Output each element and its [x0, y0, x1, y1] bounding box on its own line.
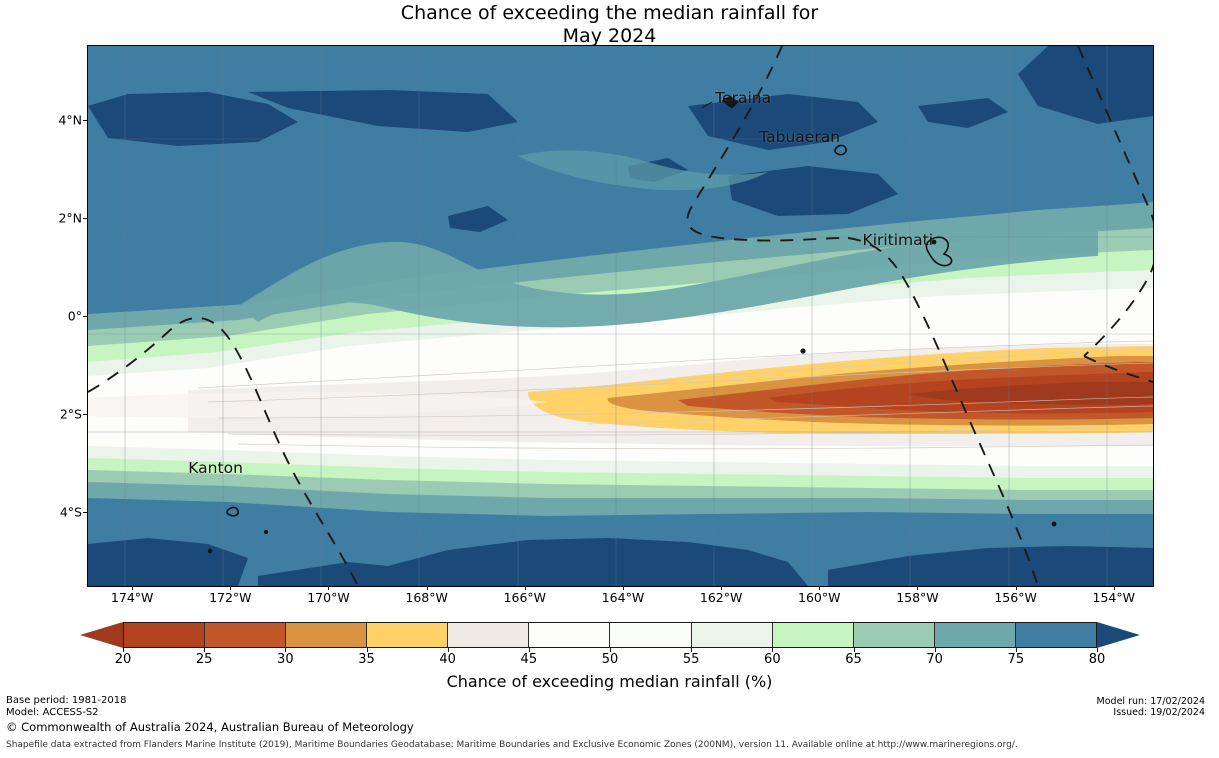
- colorbar-segment-0: [124, 623, 205, 647]
- colorbar-segment-11: [1016, 623, 1096, 647]
- colorbar-tick-label-75: 75: [1008, 652, 1025, 667]
- x-tick-mark-2: [328, 586, 329, 590]
- x-tick-label-4: 166°W: [504, 590, 546, 605]
- x-tick-mark-10: [1114, 586, 1115, 590]
- x-tick-label-5: 164°W: [602, 590, 644, 605]
- rainfall-probability-contour-map: [88, 46, 1153, 586]
- colorbar-tick-label-60: 60: [764, 652, 781, 667]
- place-label-kanton: Kanton: [188, 459, 243, 477]
- colorbar-over-arrow: [1097, 622, 1140, 648]
- place-label-tabuaeran: Tabuaeran: [759, 128, 840, 146]
- copyright-text: © Commonwealth of Australia 2024, Austra…: [6, 720, 414, 734]
- x-tick-mark-3: [427, 586, 428, 590]
- y-tick-label-0: 4°N: [58, 112, 82, 127]
- colorbar-tick-label-50: 50: [602, 652, 619, 667]
- y-tick-mark-1: [83, 218, 87, 219]
- colorbar-tick-label-70: 70: [926, 652, 943, 667]
- y-tick-mark-2: [83, 316, 87, 317]
- colorbar-segment-2: [286, 623, 367, 647]
- colorbar-segment-4: [448, 623, 529, 647]
- model-text: Model: ACCESS-S2: [6, 707, 126, 719]
- x-tick-label-8: 158°W: [896, 590, 938, 605]
- y-tick-mark-3: [83, 414, 87, 415]
- x-tick-mark-7: [819, 586, 820, 590]
- colorbar-segment-10: [935, 623, 1016, 647]
- y-tick-label-4: 4°S: [60, 505, 82, 520]
- colorbar-tick-label-65: 65: [845, 652, 862, 667]
- colorbar-tick-label-35: 35: [358, 652, 375, 667]
- x-tick-mark-5: [623, 586, 624, 590]
- y-tick-label-1: 2°N: [58, 210, 82, 225]
- colorbar-tick-label-45: 45: [521, 652, 538, 667]
- place-label-teraina: Teraina: [715, 89, 771, 107]
- x-tick-mark-8: [917, 586, 918, 590]
- colorbar-segment-3: [367, 623, 448, 647]
- map-panel: Teraina Tabuaeran Kiritimati Kanton: [87, 45, 1154, 587]
- x-tick-label-6: 162°W: [700, 590, 742, 605]
- x-tick-label-10: 154°W: [1093, 590, 1135, 605]
- colorbar-tick-label-40: 40: [439, 652, 456, 667]
- colorbar-tick-label-55: 55: [683, 652, 700, 667]
- colorbar-segment-9: [854, 623, 935, 647]
- x-tick-mark-6: [721, 586, 722, 590]
- page-title: Chance of exceeding the median rainfall …: [0, 2, 1219, 48]
- y-tick-mark-4: [83, 512, 87, 513]
- colorbar-segment-7: [692, 623, 773, 647]
- colorbar-tick-label-25: 25: [196, 652, 213, 667]
- colorbar-segments: [123, 622, 1097, 648]
- x-tick-label-3: 168°W: [405, 590, 447, 605]
- x-tick-label-2: 170°W: [307, 590, 349, 605]
- place-label-kiritimati: Kiritimati: [863, 231, 934, 249]
- y-tick-mark-0: [83, 120, 87, 121]
- x-tick-mark-9: [1016, 586, 1017, 590]
- x-tick-label-1: 172°W: [209, 590, 251, 605]
- base-period-text: Base period: 1981-2018: [6, 695, 126, 707]
- colorbar-title: Chance of exceeding median rainfall (%): [0, 672, 1219, 691]
- x-tick-mark-1: [230, 586, 231, 590]
- footer-left: Base period: 1981-2018 Model: ACCESS-S2: [6, 695, 126, 718]
- colorbar-segment-5: [529, 623, 610, 647]
- colorbar-segment-1: [205, 623, 286, 647]
- colorbar-tick-label-30: 30: [277, 652, 294, 667]
- x-tick-label-0: 174°W: [111, 590, 153, 605]
- issued-text: Issued: 19/02/2024: [1097, 707, 1205, 718]
- colorbar-tick-label-20: 20: [115, 652, 132, 667]
- colorbar-tick-label-80: 80: [1089, 652, 1106, 667]
- x-tick-label-9: 156°W: [994, 590, 1036, 605]
- x-tick-label-7: 160°W: [798, 590, 840, 605]
- y-tick-label-2: 0°: [68, 309, 82, 324]
- x-tick-mark-4: [525, 586, 526, 590]
- model-run-text: Model run: 17/02/2024: [1097, 696, 1205, 707]
- x-tick-mark-0: [132, 586, 133, 590]
- colorbar-segment-6: [610, 623, 691, 647]
- shapefile-attribution: Shapefile data extracted from Flanders M…: [6, 740, 1018, 750]
- colorbar-segment-8: [773, 623, 854, 647]
- colorbar: 20253035404550556065707580: [40, 622, 1180, 648]
- footer-right: Model run: 17/02/2024 Issued: 19/02/2024: [1097, 696, 1205, 718]
- colorbar-under-arrow: [80, 622, 123, 648]
- y-tick-label-3: 2°S: [60, 407, 82, 422]
